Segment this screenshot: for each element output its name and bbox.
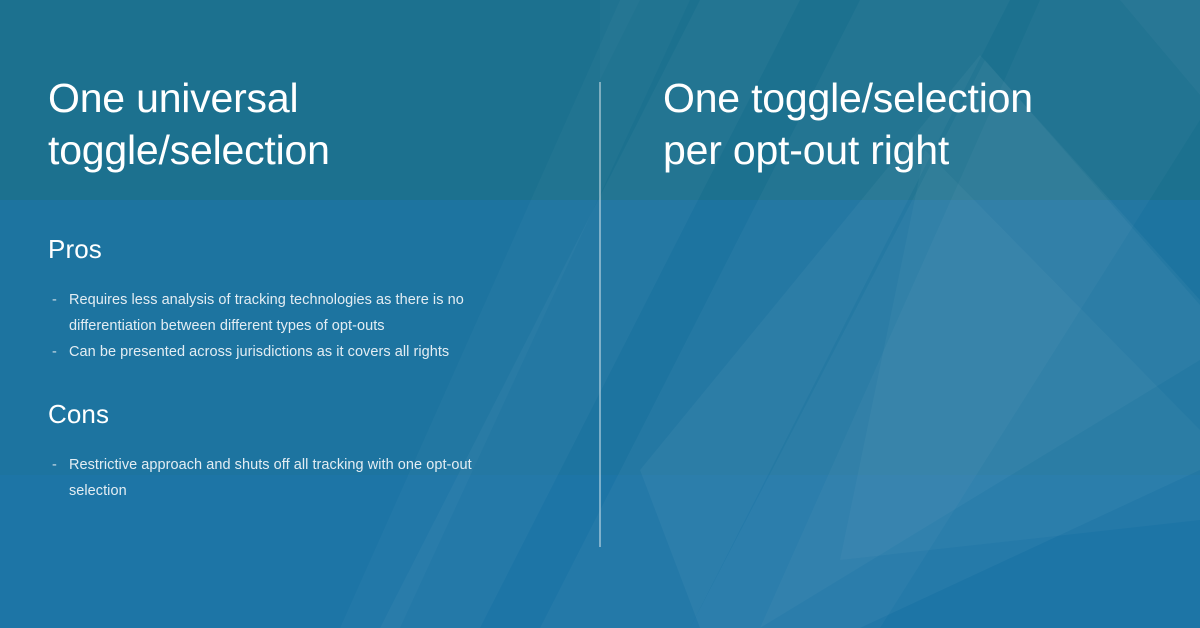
dash-marker: - bbox=[52, 452, 57, 478]
list-item: - Can be presented across jurisdictions … bbox=[52, 339, 522, 365]
cons-list-left: - Restrictive approach and shuts off all… bbox=[52, 452, 522, 504]
column-one-toggle-per-right: One toggle/selection per opt-out right P… bbox=[601, 0, 1200, 628]
comparison-slide: One universal toggle/selection Pros - Re… bbox=[0, 0, 1200, 628]
dash-marker: - bbox=[52, 339, 57, 365]
pros-list-left: - Requires less analysis of tracking tec… bbox=[52, 287, 522, 365]
section-title-cons-left: Cons bbox=[48, 398, 109, 430]
list-item-text: Can be presented across jurisdictions as… bbox=[69, 344, 449, 360]
column-one-universal-toggle: One universal toggle/selection Pros - Re… bbox=[0, 0, 599, 628]
list-item-text: Requires less analysis of tracking techn… bbox=[69, 292, 464, 334]
list-item: - Restrictive approach and shuts off all… bbox=[52, 452, 522, 504]
column-heading-left: One universal toggle/selection bbox=[48, 72, 518, 176]
list-item: - Requires less analysis of tracking tec… bbox=[52, 287, 522, 339]
dash-marker: - bbox=[52, 287, 57, 313]
list-item-text: Restrictive approach and shuts off all t… bbox=[69, 457, 472, 499]
section-title-pros-left: Pros bbox=[48, 233, 102, 265]
column-heading-right: One toggle/selection per opt-out right bbox=[663, 72, 1133, 176]
